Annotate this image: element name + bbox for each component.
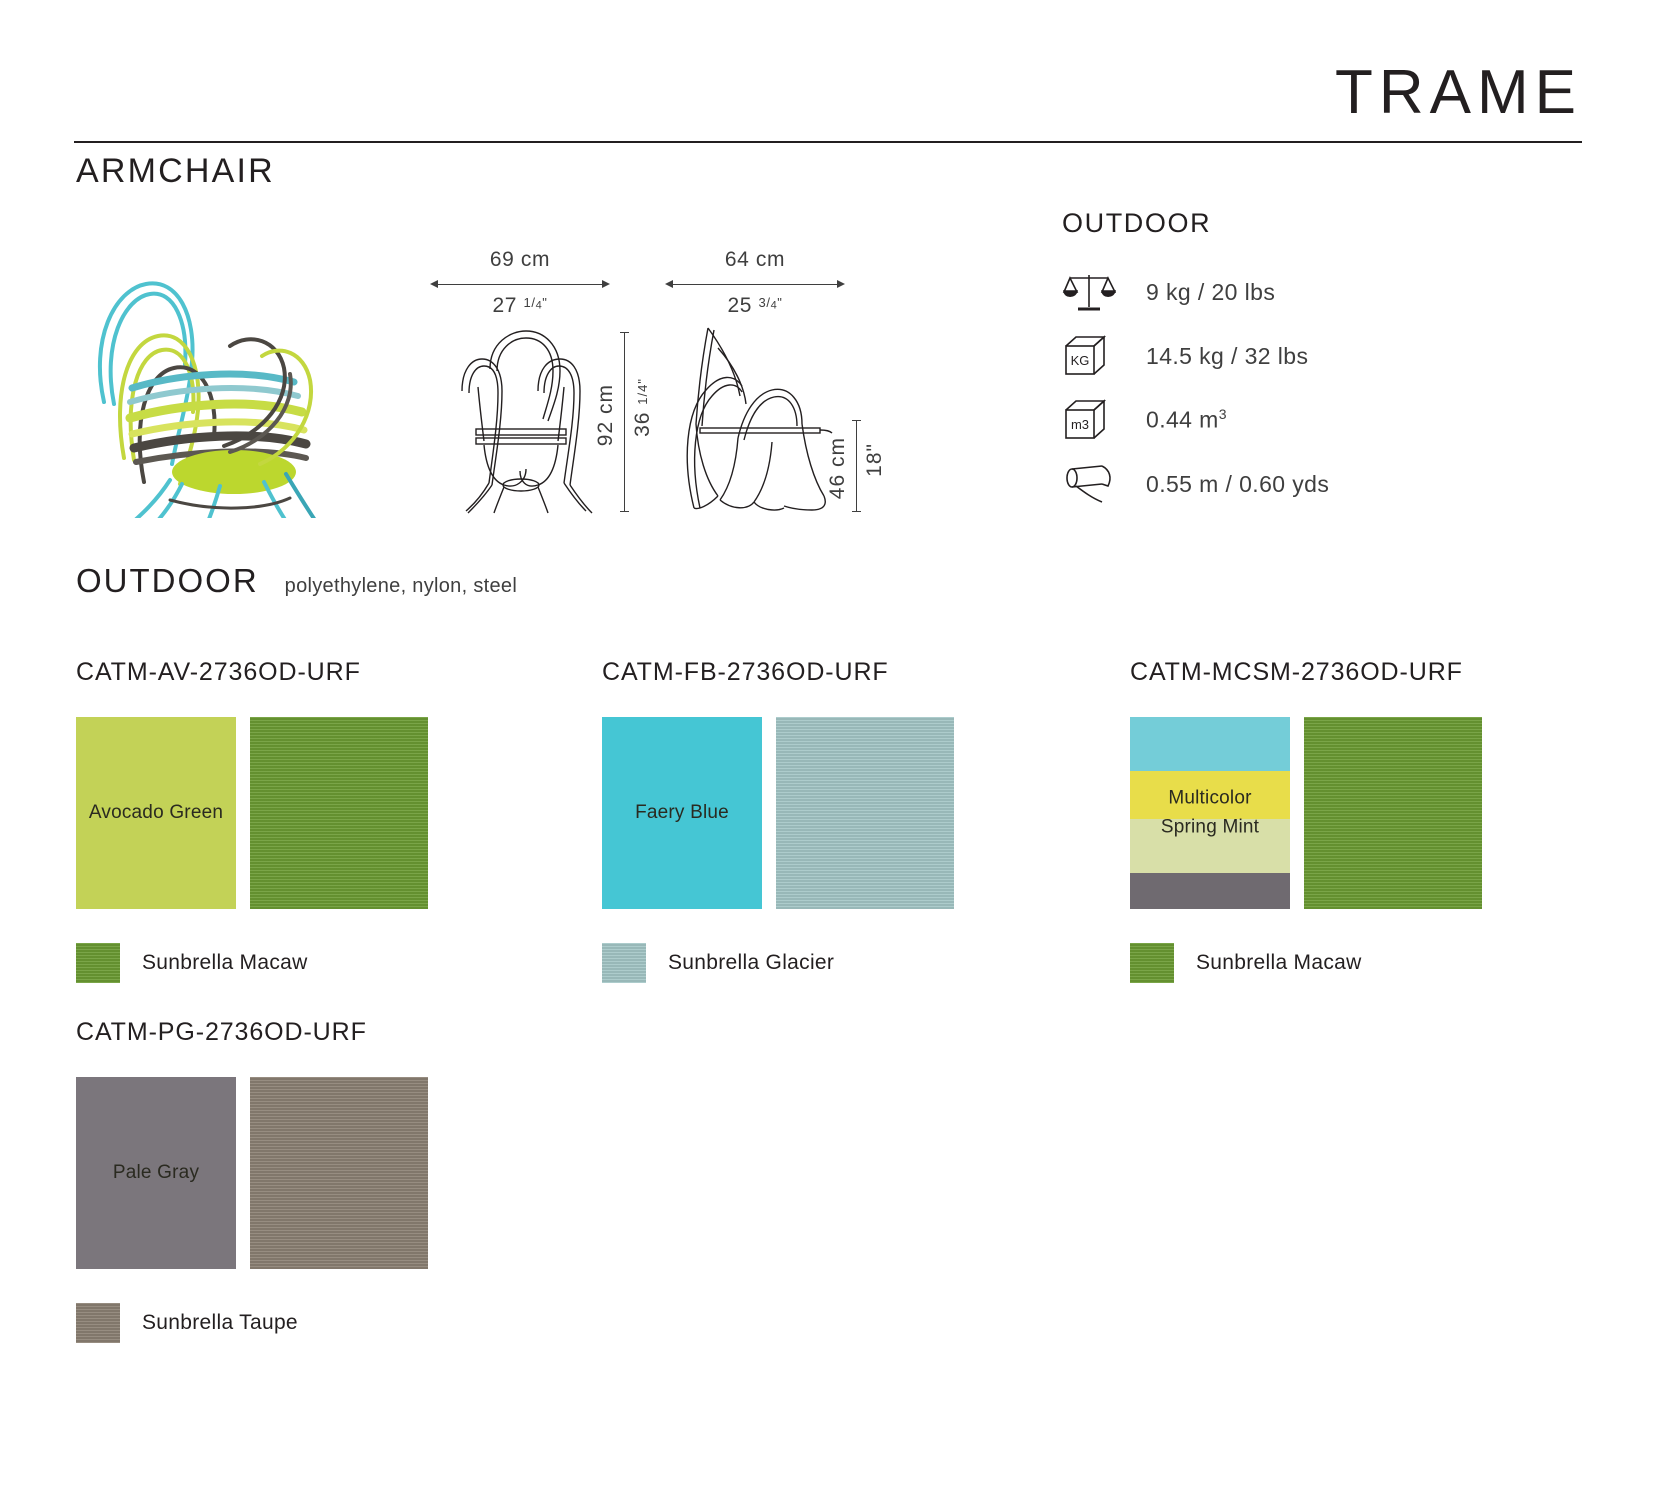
spec-row-volume: m3 0.44 m3 [1062, 389, 1329, 451]
fabric-swatch[interactable] [1304, 717, 1482, 909]
swatch-pair: Avocado Green [76, 717, 546, 909]
swatch-pair: Faery Blue [602, 717, 1072, 909]
spec-row-weight: 9 kg / 20 lbs [1062, 261, 1329, 323]
front-elevation-drawing [440, 325, 600, 520]
box-m3-icon: m3 [1062, 396, 1126, 444]
color-swatch-label: Faery Blue [635, 799, 729, 827]
color-swatch[interactable]: Avocado Green [76, 717, 236, 909]
width-arrow [430, 278, 610, 292]
spec-panel-title: OUTDOOR [1062, 208, 1329, 239]
swatch-pair: Multicolor Spring Mint [1130, 717, 1600, 909]
svg-text:KG: KG [1071, 353, 1090, 368]
materials-line: OUTDOOR polyethylene, nylon, steel [76, 562, 517, 600]
color-swatch[interactable]: Pale Gray [76, 1077, 236, 1269]
depth-in-label: 25 3/4" [665, 294, 845, 318]
side-view-dimension: 64 cm 25 3/4" [665, 248, 845, 318]
width-cm-label: 69 cm [430, 248, 610, 272]
sku-label: CATM-MCSM-2736OD-URF [1130, 658, 1600, 687]
legend-chip [1130, 943, 1174, 983]
seat-height-cm-label: 46 cm [826, 437, 850, 499]
sku-label: CATM-FB-2736OD-URF [602, 658, 1072, 687]
product-photo [74, 232, 366, 518]
legend-row: Sunbrella Glacier [602, 943, 1072, 983]
spec-value-shipping-weight: 14.5 kg / 32 lbs [1146, 343, 1308, 370]
scale-icon [1062, 268, 1126, 316]
swatch-group-pale-gray: CATM-PG-2736OD-URF Pale Gray Sunbrella T… [76, 1018, 546, 1343]
width-in-label: 27 1/4" [430, 294, 610, 318]
legend-row: Sunbrella Macaw [76, 943, 546, 983]
svg-text:m3: m3 [1071, 417, 1089, 432]
multicolor-band [1130, 717, 1290, 771]
color-swatch-label: Multicolor Spring Mint [1130, 785, 1290, 842]
side-elevation-drawing [672, 320, 842, 520]
spec-value-volume: 0.44 m3 [1146, 406, 1227, 434]
seat-height-in-label: 18" [863, 443, 887, 477]
swatch-group-multicolor-spring-mint: CATM-MCSM-2736OD-URF Multicolor Spring M… [1130, 658, 1600, 983]
legend-label: Sunbrella Taupe [142, 1311, 298, 1335]
front-view-dimension: 69 cm 27 1/4" [430, 248, 610, 318]
spec-value-weight: 9 kg / 20 lbs [1146, 279, 1275, 306]
color-swatch[interactable]: Multicolor Spring Mint [1130, 717, 1290, 909]
spec-sheet-page: TRAME ARMCHAIR [0, 0, 1654, 1486]
swatch-group-avocado-green: CATM-AV-2736OD-URF Avocado Green Sunbrel… [76, 658, 546, 983]
sku-label: CATM-PG-2736OD-URF [76, 1018, 546, 1047]
materials-list: polyethylene, nylon, steel [285, 575, 517, 598]
depth-cm-label: 64 cm [665, 248, 845, 272]
outdoor-spec-panel: OUTDOOR 9 kg / 20 lbs [1062, 208, 1329, 517]
fabric-swatch[interactable] [250, 1077, 428, 1269]
spec-row-shipping-weight: KG 14.5 kg / 32 lbs [1062, 325, 1329, 387]
legend-chip [76, 1303, 120, 1343]
fabric-swatch[interactable] [776, 717, 954, 909]
height-cm-label: 92 cm [594, 384, 618, 446]
legend-chip [602, 943, 646, 983]
fabric-roll-icon [1062, 460, 1126, 508]
header-divider [74, 141, 1582, 143]
box-kg-icon: KG [1062, 332, 1126, 380]
fabric-swatch[interactable] [250, 717, 428, 909]
multicolor-band [1130, 873, 1290, 909]
swatch-group-faery-blue: CATM-FB-2736OD-URF Faery Blue Sunbrella … [602, 658, 1072, 983]
height-in-label: 36 1/4" [631, 378, 655, 437]
legend-label: Sunbrella Glacier [668, 951, 834, 975]
legend-chip [76, 943, 120, 983]
legend-label: Sunbrella Macaw [1196, 951, 1362, 975]
swatch-pair: Pale Gray [76, 1077, 546, 1269]
sku-label: CATM-AV-2736OD-URF [76, 658, 546, 687]
legend-row: Sunbrella Macaw [1130, 943, 1600, 983]
legend-label: Sunbrella Macaw [142, 951, 308, 975]
spec-value-fabric: 0.55 m / 0.60 yds [1146, 471, 1329, 498]
spec-row-fabric: 0.55 m / 0.60 yds [1062, 453, 1329, 515]
page-title: ARMCHAIR [76, 152, 275, 191]
color-swatch-label: Pale Gray [113, 1159, 199, 1187]
depth-arrow [665, 278, 845, 292]
color-swatch[interactable]: Faery Blue [602, 717, 762, 909]
materials-title: OUTDOOR [76, 562, 259, 600]
legend-row: Sunbrella Taupe [76, 1303, 546, 1343]
brand-title: TRAME [1335, 62, 1582, 124]
color-swatch-label: Avocado Green [89, 799, 223, 827]
